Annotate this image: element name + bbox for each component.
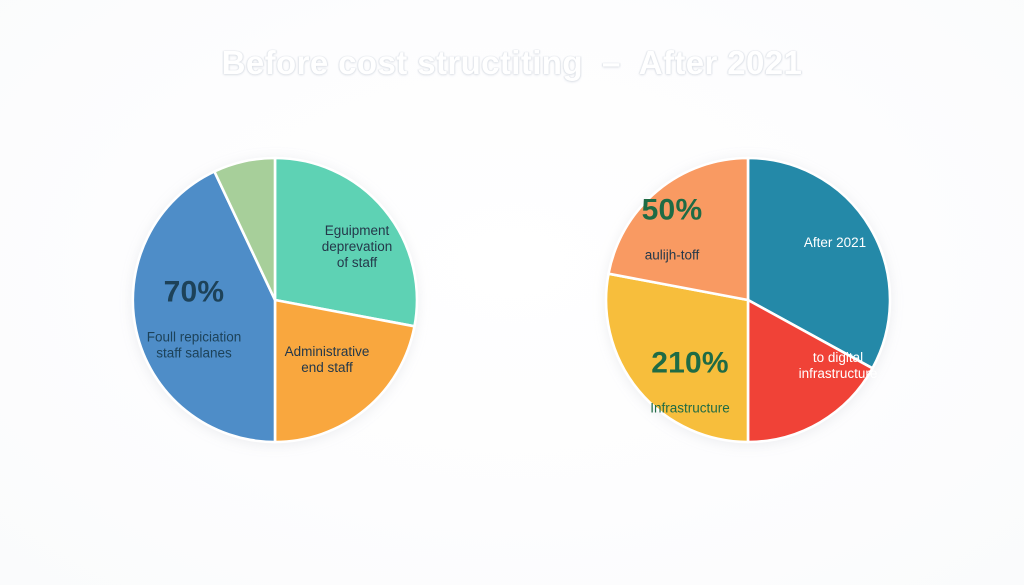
slide-canvas: Before cost structiting – After 2021 Egu… [0,0,1024,585]
pie-slice-infrastructure[interactable] [606,274,748,442]
pie-slice-staff[interactable] [609,158,749,300]
pie-chart-before [129,154,421,446]
pie-after-svg [602,154,894,446]
pie-chart-after [602,154,894,446]
pie-slice-administrative[interactable] [275,300,415,442]
pie-slice-equipment[interactable] [275,158,417,326]
pie-before-svg [129,154,421,446]
page-title: Before cost structiting – After 2021 [0,44,1024,82]
